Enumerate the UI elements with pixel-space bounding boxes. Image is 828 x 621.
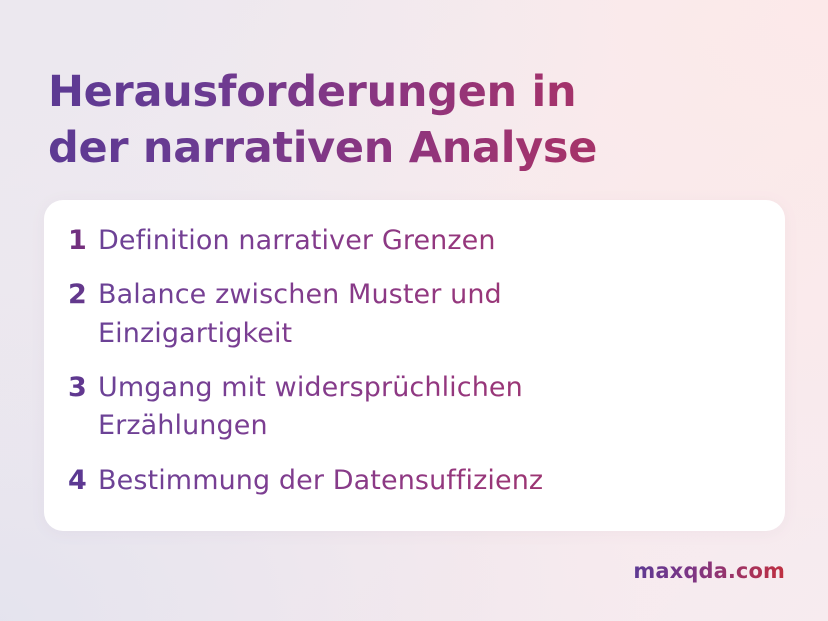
slide-canvas: Herausforderungen in der narrativen Anal… xyxy=(0,0,828,621)
challenges-list: 1 Definition narrativer Grenzen 2 Balanc… xyxy=(68,222,751,500)
page-title: Herausforderungen in der narrativen Anal… xyxy=(48,65,748,177)
list-item-number: 3 xyxy=(68,369,98,407)
list-item-label: Definition narrativer Grenzen xyxy=(98,222,751,260)
list-item-number: 1 xyxy=(68,222,98,260)
list-item-label: Umgang mit widersprüchlichen Erzählungen xyxy=(98,369,751,446)
checklist-card: 1 Definition narrativer Grenzen 2 Balanc… xyxy=(44,200,785,531)
list-item: 4 Bestimmung der Datensuffizienz xyxy=(68,462,751,500)
list-item: 2 Balance zwischen Muster und Einzigarti… xyxy=(68,276,751,353)
list-item-label: Balance zwischen Muster und Einzigartigk… xyxy=(98,276,751,353)
list-item: 3 Umgang mit widersprüchlichen Erzählung… xyxy=(68,369,751,446)
list-item-number: 2 xyxy=(68,276,98,314)
list-item: 1 Definition narrativer Grenzen xyxy=(68,222,751,260)
list-item-number: 4 xyxy=(68,462,98,500)
brand-watermark: maxqda.com xyxy=(633,559,785,583)
list-item-label: Bestimmung der Datensuffizienz xyxy=(98,462,751,500)
